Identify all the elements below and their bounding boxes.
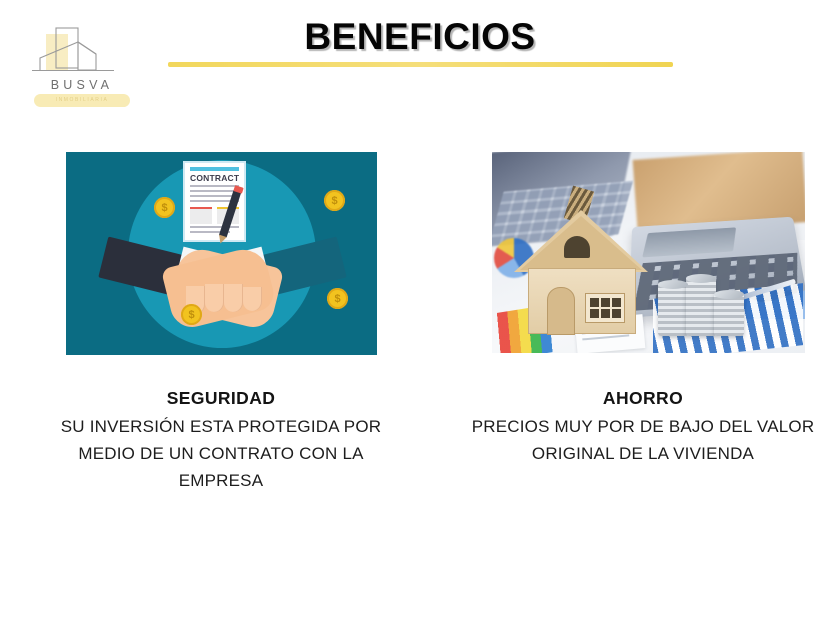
caption-body: PRECIOS MUY POR DE BAJO DEL VALOR ORIGIN… [458, 413, 828, 467]
contract-header-bar [190, 167, 239, 171]
logo-subtitle: INMOBILIARIA [34, 95, 130, 106]
calculator-screen [642, 227, 736, 257]
photo-background [492, 152, 805, 353]
dollar-coin-icon: $ [154, 197, 175, 218]
house-window [585, 293, 625, 323]
benefit-card-seguridad: CONTRACT $ $ $ $ [66, 152, 377, 355]
caption-heading: SEGURIDAD [36, 388, 406, 409]
slide-canvas: BUSVA INMOBILIARIA BENEFICIOS CONTRACT [0, 0, 840, 630]
house-body [528, 268, 636, 334]
benefit-card-ahorro [492, 152, 805, 353]
caption-seguridad: SEGURIDAD SU INVERSIÓN ESTA PROTEGIDA PO… [36, 388, 406, 494]
title-underline-rule [168, 62, 673, 67]
caption-body: SU INVERSIÓN ESTA PROTEGIDA POR MEDIO DE… [36, 413, 406, 494]
handshake-contract-illustration: CONTRACT $ $ $ $ [66, 152, 377, 355]
page-title: BENEFICIOS [0, 16, 840, 58]
house-model-coins-calculator-photo [492, 152, 805, 353]
coin-stacks [658, 272, 750, 336]
dollar-coin-icon: $ [324, 190, 345, 211]
house-door [547, 287, 575, 335]
dollar-coin-icon: $ [327, 288, 348, 309]
contract-title: CONTRACT [190, 173, 239, 183]
wooden-house-model [514, 210, 648, 332]
caption-heading: AHORRO [458, 388, 828, 409]
logo-wordmark: BUSVA [22, 78, 142, 92]
dollar-coin-icon: $ [181, 304, 202, 325]
caption-ahorro: AHORRO PRECIOS MUY POR DE BAJO DEL VALOR… [458, 388, 828, 467]
house-attic-window [564, 236, 590, 258]
